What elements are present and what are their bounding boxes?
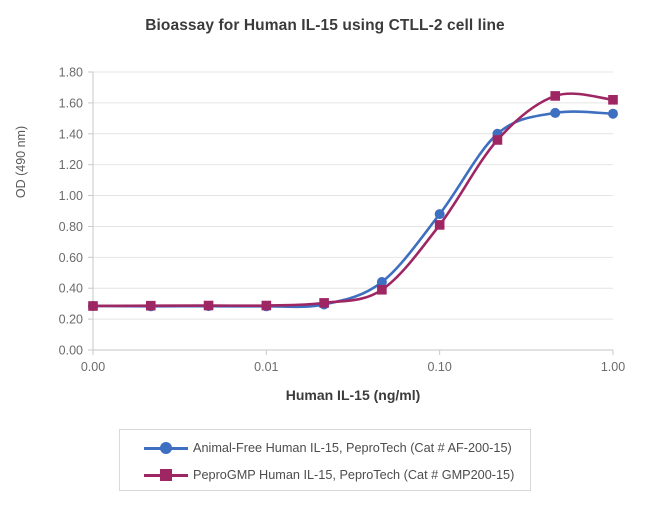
data-point-marker xyxy=(88,301,98,311)
legend-marker-circle-icon xyxy=(144,437,188,459)
y-tick-label: 1.00 xyxy=(59,189,83,203)
legend-label-peprogmp: PeproGMP Human IL-15, PeproTech (Cat # G… xyxy=(193,468,514,482)
y-tick-label: 0.60 xyxy=(59,251,83,265)
gridlines xyxy=(93,72,613,319)
legend-item-peprogmp: PeproGMP Human IL-15, PeproTech (Cat # G… xyxy=(120,462,532,488)
y-tick-label: 0.80 xyxy=(59,220,83,234)
data-point-marker xyxy=(377,285,387,295)
plot-area: 0.000.200.400.600.801.001.201.401.601.80… xyxy=(0,0,650,430)
x-tick-label: 0.01 xyxy=(254,360,278,374)
y-tick-label: 0.40 xyxy=(59,282,83,296)
y-tick-label: 1.80 xyxy=(59,66,83,80)
data-point-marker xyxy=(146,301,156,311)
y-tick-label: 0.20 xyxy=(59,313,83,327)
chart-container: Bioassay for Human IL-15 using CTLL-2 ce… xyxy=(0,0,650,507)
data-series xyxy=(88,91,618,311)
series-line-animal-free xyxy=(93,112,613,307)
y-tick-label: 1.60 xyxy=(59,96,83,110)
y-axis-ticks: 0.000.200.400.600.801.001.201.401.601.80 xyxy=(59,66,93,358)
axis-lines xyxy=(93,72,613,350)
legend-label-animal-free: Animal-Free Human IL-15, PeproTech (Cat … xyxy=(193,441,512,455)
data-point-marker xyxy=(608,109,618,119)
data-point-marker xyxy=(493,135,503,145)
x-tick-label: 0.00 xyxy=(81,360,105,374)
x-tick-label: 1.00 xyxy=(601,360,625,374)
x-axis-ticks: 0.000.010.101.00 xyxy=(81,350,625,374)
series-line-peprogmp xyxy=(93,94,613,306)
legend-marker-square-icon xyxy=(144,464,188,486)
data-point-marker xyxy=(550,108,560,118)
data-point-marker xyxy=(319,298,329,308)
data-point-marker xyxy=(550,91,560,101)
y-tick-label: 0.00 xyxy=(59,344,83,358)
chart-legend: Animal-Free Human IL-15, PeproTech (Cat … xyxy=(119,429,531,491)
data-point-marker xyxy=(435,220,445,230)
data-point-marker xyxy=(608,95,618,105)
legend-item-animal-free: Animal-Free Human IL-15, PeproTech (Cat … xyxy=(120,435,532,461)
x-tick-label: 0.10 xyxy=(427,360,451,374)
y-tick-label: 1.20 xyxy=(59,158,83,172)
data-point-marker xyxy=(262,301,272,311)
y-tick-label: 1.40 xyxy=(59,127,83,141)
data-point-marker xyxy=(435,209,445,219)
data-point-marker xyxy=(204,301,214,311)
